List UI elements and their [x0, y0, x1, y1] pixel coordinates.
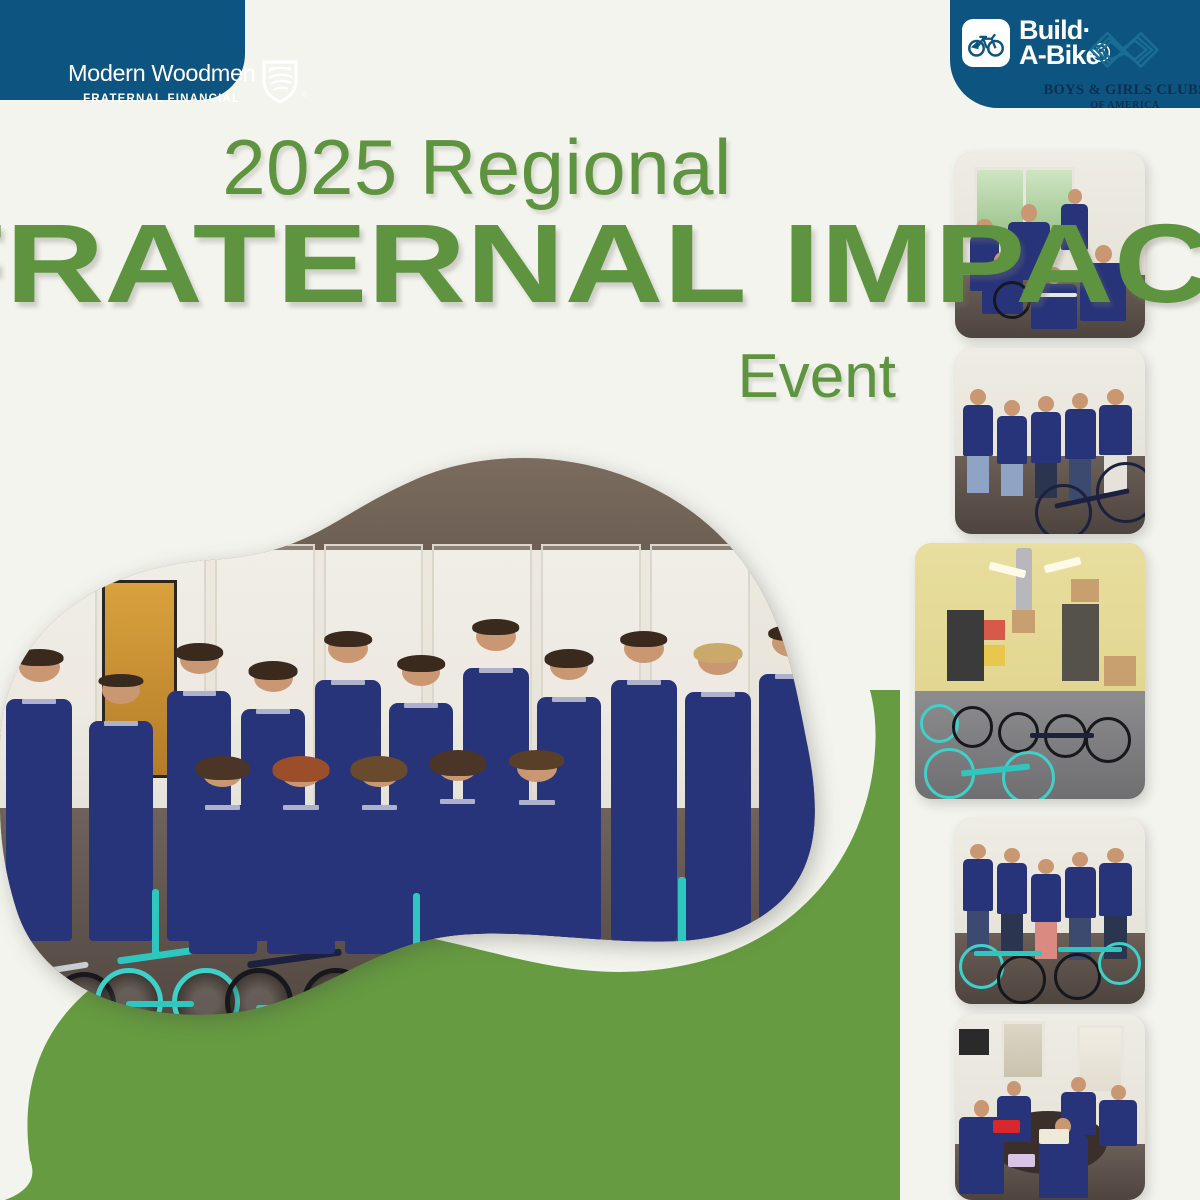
thumb-team-pointing	[955, 818, 1145, 1004]
registered-mark: ®	[301, 90, 307, 99]
photo-person	[267, 760, 335, 940]
photo-person	[424, 754, 492, 940]
bgca-logo: BOYS & GIRLS CLUBS OF AMERICA	[1040, 22, 1200, 111]
thumb-meeting-table	[955, 1014, 1145, 1200]
photo-person	[502, 754, 572, 940]
modern-woodmen-name: Modern Woodmen	[68, 62, 255, 86]
shield-icon: ®	[262, 59, 298, 103]
headline-block: 2025 Regional FRATERNAL IMPACT Event	[20, 128, 910, 408]
bgca-chevron-icon	[1080, 22, 1170, 79]
headline-line-3: Event	[20, 346, 910, 408]
thumb-team-group	[955, 348, 1145, 534]
headline-line-2: FRATERNAL IMPACT	[0, 208, 1008, 320]
bgca-subtitle: OF AMERICA	[1090, 100, 1159, 111]
photo-person	[345, 760, 413, 940]
photo-bicycle	[615, 816, 772, 1036]
photo-person	[189, 760, 257, 940]
headline-line-1: 2025 Regional	[20, 128, 910, 206]
modern-woodmen-tagline: FRATERNAL FINANCIAL	[83, 93, 240, 105]
group-photo	[0, 448, 850, 1048]
modern-woodmen-logo: Modern Woodmen FRATERNAL FINANCIAL ®	[68, 62, 298, 105]
poster-canvas: Modern Woodmen FRATERNAL FINANCIAL ®	[0, 0, 1200, 1200]
thumb-storage-room	[915, 543, 1145, 799]
photo-ceiling	[0, 448, 850, 550]
bgca-name: BOYS & GIRLS CLUBS	[1043, 82, 1200, 99]
bicycle-icon	[962, 19, 1010, 67]
